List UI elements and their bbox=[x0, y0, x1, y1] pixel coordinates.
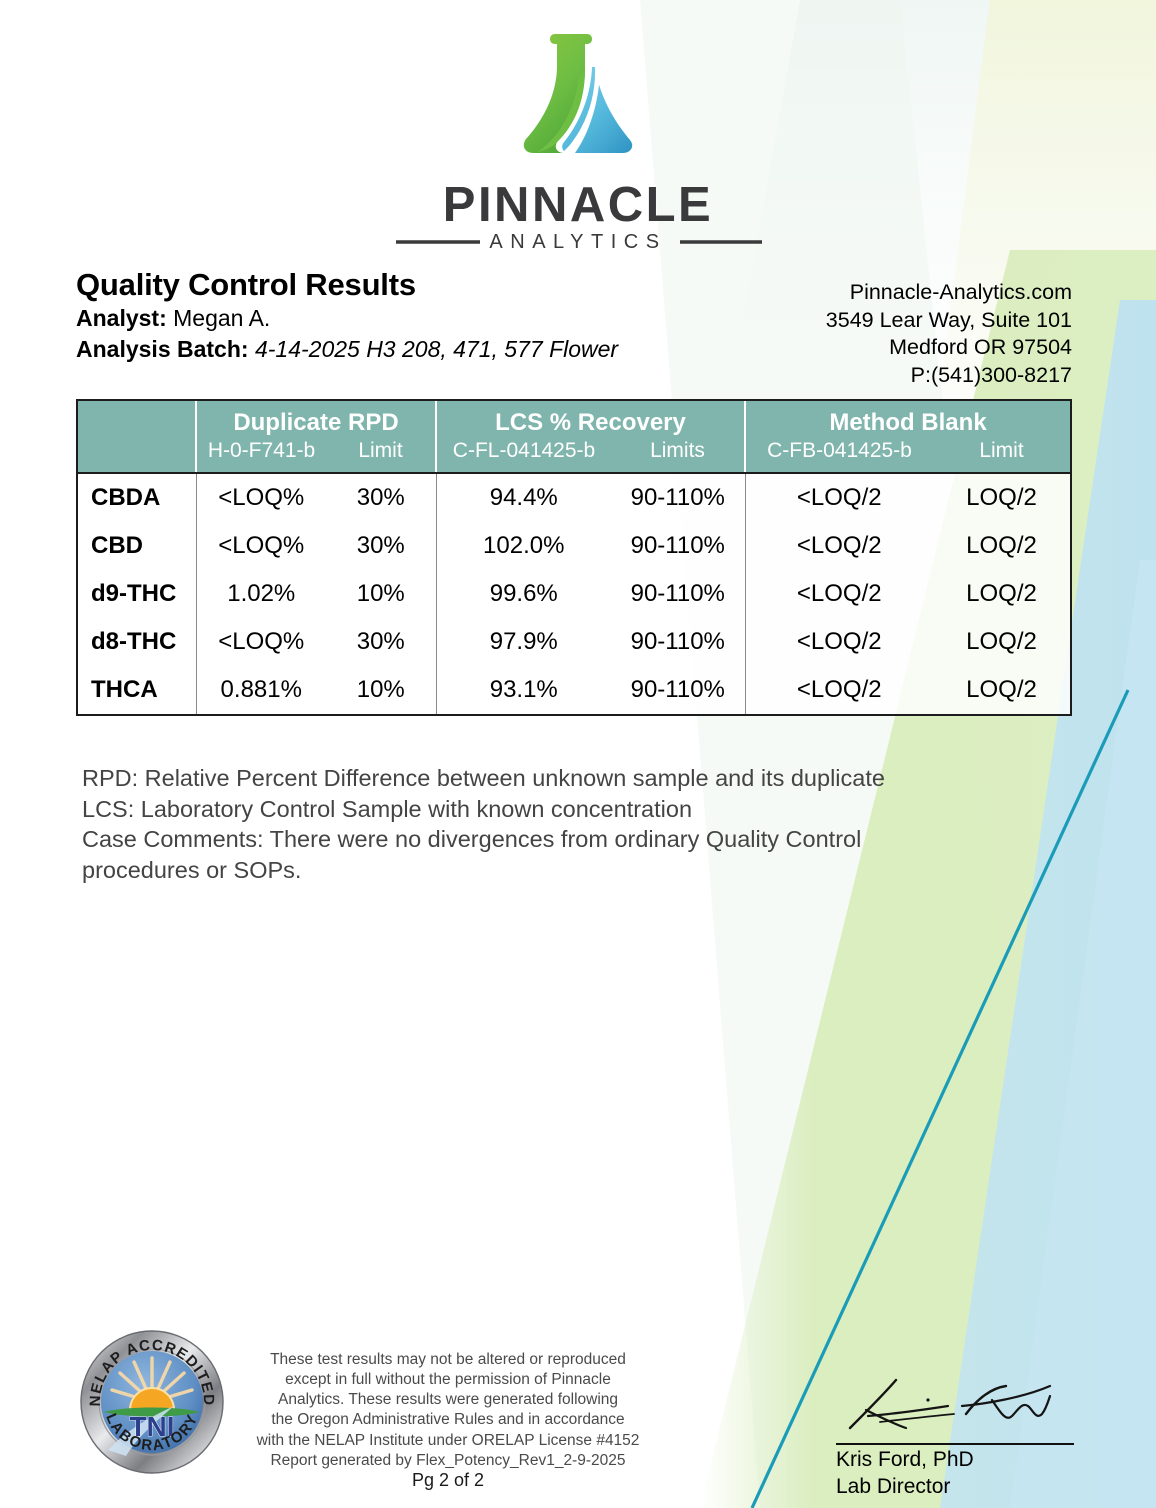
row-lcs-limits: 90-110% bbox=[611, 474, 745, 522]
group-header-lcs-recovery: LCS % Recovery bbox=[436, 401, 745, 439]
lab-city-state-zip: Medford OR 97504 bbox=[826, 334, 1072, 362]
row-analyte: CBD bbox=[78, 522, 196, 570]
row-lcs-value: 93.1% bbox=[436, 666, 611, 714]
row-dup-value: <LOQ% bbox=[196, 474, 326, 522]
row-lcs-limits: 90-110% bbox=[611, 666, 745, 714]
brand-wordmark: PINNACLE ANALYTICS bbox=[388, 176, 768, 254]
lab-street: 3549 Lear Way, Suite 101 bbox=[826, 307, 1072, 335]
footnotes-block: RPD: Relative Percent Difference between… bbox=[82, 763, 885, 885]
row-analyte: d9-THC bbox=[78, 570, 196, 618]
flask-logo-icon bbox=[503, 22, 653, 172]
subheader-lcs-limits: Limits bbox=[611, 439, 745, 472]
lab-contact-block: Pinnacle-Analytics.com 3549 Lear Way, Su… bbox=[826, 279, 1072, 390]
batch-row: Analysis Batch: 4-14-2025 H3 208, 471, 5… bbox=[76, 334, 618, 366]
group-header-duplicate-rpd: Duplicate RPD bbox=[196, 401, 436, 439]
row-dup-limit: 30% bbox=[326, 522, 436, 570]
row-mb-value: <LOQ/2 bbox=[745, 666, 933, 714]
subheader-duplicate-sample-id: H-0-F741-b bbox=[196, 439, 326, 472]
batch-value: 4-14-2025 H3 208, 471, 577 Flower bbox=[255, 336, 618, 362]
nelap-accredited-laboratory-seal-icon: TNI NELAP ACCREDITED LABORATORY bbox=[78, 1328, 226, 1476]
row-mb-value: <LOQ/2 bbox=[745, 618, 933, 666]
row-mb-limit: LOQ/2 bbox=[933, 522, 1070, 570]
footnote-rpd: RPD: Relative Percent Difference between… bbox=[82, 763, 885, 794]
disclaimer-line-1: These test results may not be altered or… bbox=[222, 1350, 674, 1370]
subheader-method-blank-limit: Limit bbox=[933, 439, 1070, 472]
nelap-seal: TNI NELAP ACCREDITED LABORATORY bbox=[78, 1328, 226, 1481]
row-analyte: d8-THC bbox=[78, 618, 196, 666]
qc-report-page: PINNACLE ANALYTICS Quality Control Resul… bbox=[0, 0, 1156, 1508]
row-mb-limit: LOQ/2 bbox=[933, 666, 1070, 714]
lab-phone: P:(541)300-8217 bbox=[826, 362, 1072, 390]
row-dup-limit: 30% bbox=[326, 618, 436, 666]
analyst-row: Analyst: Megan A. bbox=[76, 303, 618, 335]
analyte-sub-blank bbox=[78, 439, 196, 472]
svg-text:ANALYTICS: ANALYTICS bbox=[489, 231, 666, 253]
table-row: THCA 0.881% 10% 93.1% 90-110% <LOQ/2 LOQ… bbox=[78, 666, 1070, 714]
footnote-case-comments-line2: procedures or SOPs. bbox=[82, 855, 885, 886]
table-row: CBD <LOQ% 30% 102.0% 90-110% <LOQ/2 LOQ/… bbox=[78, 522, 1070, 570]
table-row: d8-THC <LOQ% 30% 97.9% 90-110% <LOQ/2 LO… bbox=[78, 618, 1070, 666]
row-lcs-value: 102.0% bbox=[436, 522, 611, 570]
batch-label: Analysis Batch: bbox=[76, 336, 249, 362]
page-number: Pg 2 of 2 bbox=[222, 1470, 674, 1491]
page-title: Quality Control Results bbox=[76, 268, 618, 303]
group-header-method-blank: Method Blank bbox=[745, 401, 1070, 439]
row-mb-limit: LOQ/2 bbox=[933, 618, 1070, 666]
signatory-name: Kris Ford, PhD bbox=[836, 1448, 1076, 1472]
table-subheader-row: H-0-F741-b Limit C-FL-041425-b Limits C-… bbox=[78, 439, 1070, 472]
row-mb-limit: LOQ/2 bbox=[933, 570, 1070, 618]
analyst-label: Analyst: bbox=[76, 305, 167, 331]
brand-logo: PINNACLE ANALYTICS bbox=[0, 22, 1156, 254]
disclaimer-block: These test results may not be altered or… bbox=[222, 1350, 674, 1471]
footnote-case-comments-line1: Case Comments: There were no divergences… bbox=[82, 824, 885, 855]
row-mb-value: <LOQ/2 bbox=[745, 570, 933, 618]
svg-text:PINNACLE: PINNACLE bbox=[443, 178, 713, 232]
row-lcs-value: 94.4% bbox=[436, 474, 611, 522]
signature-block: Kris Ford, PhD Lab Director bbox=[836, 1372, 1076, 1498]
disclaimer-line-5: with the NELAP Institute under ORELAP Li… bbox=[222, 1431, 674, 1451]
table-row: d9-THC 1.02% 10% 99.6% 90-110% <LOQ/2 LO… bbox=[78, 570, 1070, 618]
table-header: Duplicate RPD LCS % Recovery Method Blan… bbox=[78, 401, 1070, 472]
disclaimer-line-6: Report generated by Flex_Potency_Rev1_2-… bbox=[222, 1451, 674, 1471]
subheader-method-blank-sample-id: C-FB-041425-b bbox=[745, 439, 933, 472]
table-group-header-row: Duplicate RPD LCS % Recovery Method Blan… bbox=[78, 401, 1070, 439]
row-lcs-value: 99.6% bbox=[436, 570, 611, 618]
footnote-lcs: LCS: Laboratory Control Sample with know… bbox=[82, 794, 885, 825]
row-analyte: CBDA bbox=[78, 474, 196, 522]
row-analyte: THCA bbox=[78, 666, 196, 714]
qc-results-table: Duplicate RPD LCS % Recovery Method Blan… bbox=[76, 399, 1072, 716]
row-lcs-value: 97.9% bbox=[436, 618, 611, 666]
row-dup-limit: 10% bbox=[326, 570, 436, 618]
report-header-left: Quality Control Results Analyst: Megan A… bbox=[76, 268, 618, 366]
row-lcs-limits: 90-110% bbox=[611, 618, 745, 666]
row-dup-limit: 30% bbox=[326, 474, 436, 522]
row-lcs-limits: 90-110% bbox=[611, 522, 745, 570]
signature-rule bbox=[836, 1443, 1074, 1445]
row-mb-value: <LOQ/2 bbox=[745, 474, 933, 522]
disclaimer-line-4: the Oregon Administrative Rules and in a… bbox=[222, 1410, 674, 1430]
row-dup-value: <LOQ% bbox=[196, 618, 326, 666]
analyst-value: Megan A. bbox=[173, 305, 270, 331]
handwritten-signature-icon bbox=[836, 1372, 1076, 1436]
row-lcs-limits: 90-110% bbox=[611, 570, 745, 618]
table-body: CBDA <LOQ% 30% 94.4% 90-110% <LOQ/2 LOQ/… bbox=[78, 474, 1070, 714]
disclaimer-line-2: except in full without the permission of… bbox=[222, 1370, 674, 1390]
row-mb-limit: LOQ/2 bbox=[933, 474, 1070, 522]
row-dup-value: <LOQ% bbox=[196, 522, 326, 570]
row-mb-value: <LOQ/2 bbox=[745, 522, 933, 570]
subheader-duplicate-limit: Limit bbox=[326, 439, 436, 472]
signatory-role: Lab Director bbox=[836, 1475, 1076, 1499]
analyte-group-blank bbox=[78, 401, 196, 439]
disclaimer-line-3: Analytics. These results were generated … bbox=[222, 1390, 674, 1410]
lab-website: Pinnacle-Analytics.com bbox=[826, 279, 1072, 307]
row-dup-value: 1.02% bbox=[196, 570, 326, 618]
row-dup-limit: 10% bbox=[326, 666, 436, 714]
table-row: CBDA <LOQ% 30% 94.4% 90-110% <LOQ/2 LOQ/… bbox=[78, 474, 1070, 522]
subheader-lcs-sample-id: C-FL-041425-b bbox=[436, 439, 611, 472]
row-dup-value: 0.881% bbox=[196, 666, 326, 714]
